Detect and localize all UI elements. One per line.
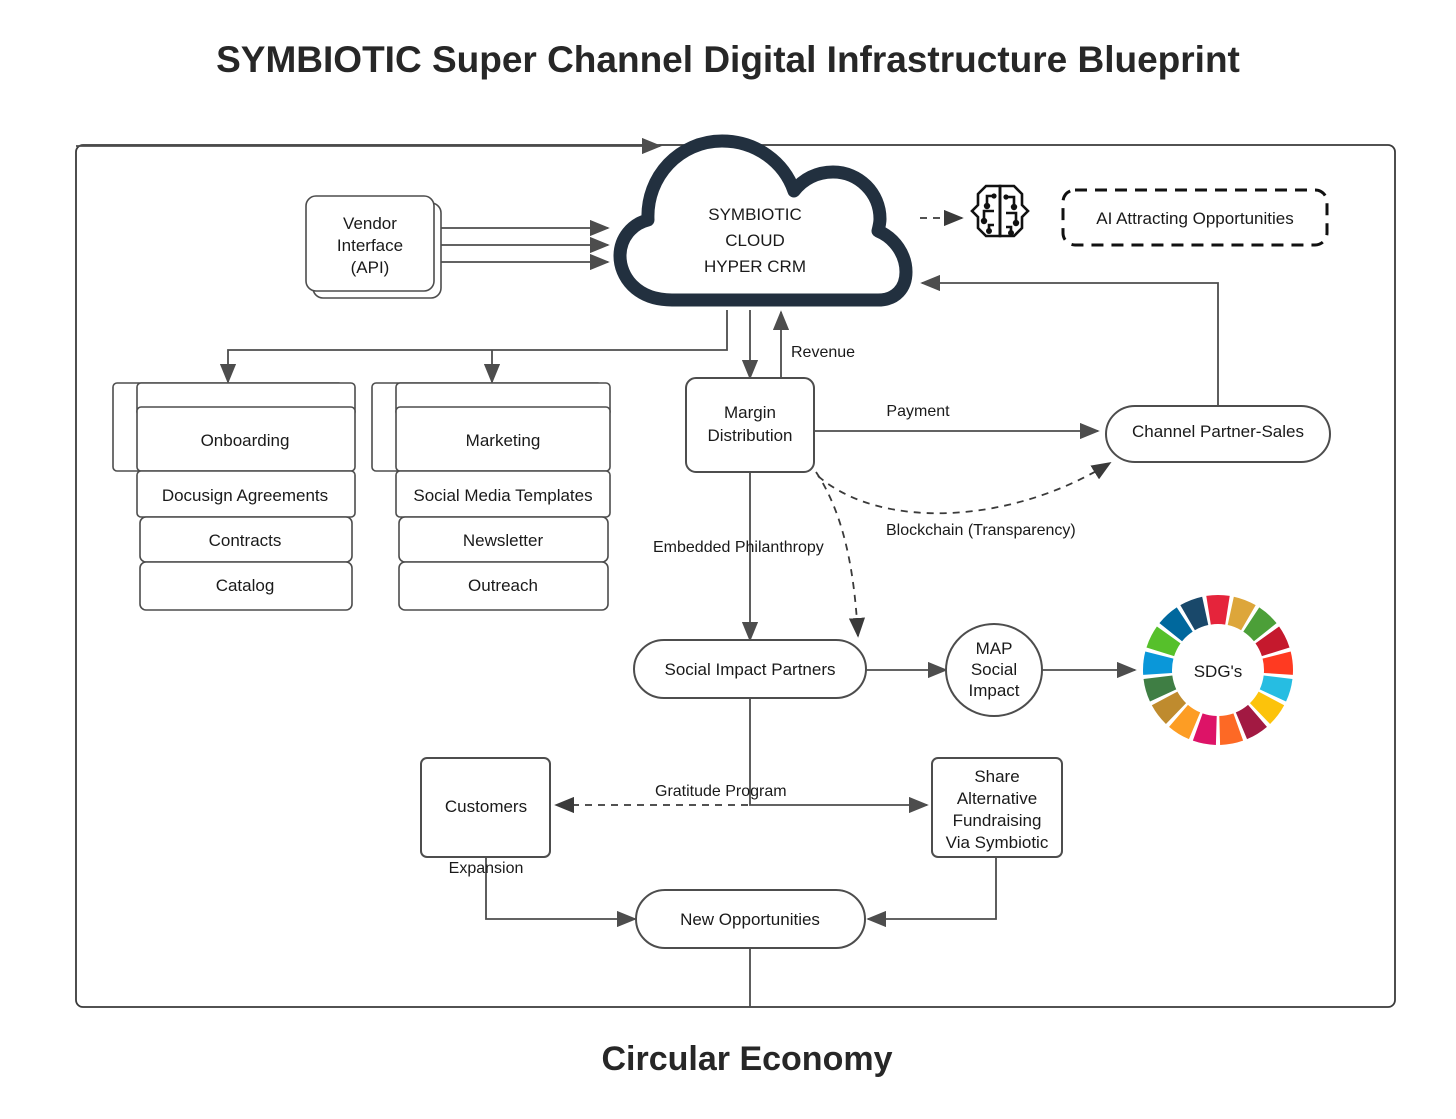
- margin-line-1: Margin: [724, 403, 776, 422]
- onboarding-header: Onboarding: [201, 431, 290, 450]
- node-share-fundraising[interactable]: Share Alternative Fundraising Via Symbio…: [932, 758, 1062, 857]
- ai-brain-icon: [972, 186, 1028, 236]
- map-line-3: Impact: [968, 681, 1019, 700]
- edge-channel-to-cloud: [922, 283, 1218, 406]
- node-ai-attracting-opportunities[interactable]: AI Attracting Opportunities: [1063, 190, 1327, 245]
- cloud-line-1: SYMBIOTIC: [708, 205, 802, 224]
- diagram-canvas: SYMBIOTIC Super Channel Digital Infrastr…: [0, 0, 1456, 1119]
- node-map-social-impact[interactable]: MAP Social Impact: [946, 624, 1042, 716]
- edge-cloud-to-onboarding: [228, 310, 727, 382]
- sdg-wheel-chart: SDG's: [1143, 595, 1293, 745]
- share-line-3: Fundraising: [953, 811, 1042, 830]
- vendor-line-1: Vendor: [343, 214, 397, 233]
- node-onboarding-stack[interactable]: Onboarding Docusign Agreements Contracts…: [113, 383, 355, 610]
- label-embedded-philanthropy: Embedded Philanthropy: [653, 539, 824, 556]
- margin-line-2: Distribution: [707, 426, 792, 445]
- label-payment: Payment: [886, 403, 950, 420]
- onboarding-row-0-label: Docusign Agreements: [162, 486, 328, 505]
- cloud-line-2: CLOUD: [725, 231, 785, 250]
- footer-title: Circular Economy: [602, 1040, 893, 1078]
- node-customers[interactable]: Customers: [421, 758, 550, 857]
- label-gratitude-program: Gratitude Program: [655, 783, 787, 800]
- page-title: SYMBIOTIC Super Channel Digital Infrastr…: [216, 39, 1240, 80]
- onboarding-row-1-label: Contracts: [209, 531, 282, 550]
- node-margin-distribution[interactable]: Margin Distribution: [686, 378, 814, 472]
- node-symbiotic-cloud[interactable]: SYMBIOTIC CLOUD HYPER CRM: [620, 141, 906, 300]
- node-marketing-stack[interactable]: Marketing Social Media Templates Newslet…: [372, 383, 610, 610]
- node-channel-partner-sales[interactable]: Channel Partner-Sales: [1106, 406, 1330, 462]
- map-line-2: Social: [971, 660, 1017, 679]
- map-line-1: MAP: [976, 639, 1013, 658]
- sdg-segment-1: [1206, 595, 1229, 625]
- edge-blockchain-to-channel: [818, 463, 1110, 513]
- share-line-2: Alternative: [957, 789, 1037, 808]
- sdg-label: SDG's: [1194, 662, 1243, 681]
- share-line-4: Via Symbiotic: [946, 833, 1049, 852]
- marketing-row-0-label: Social Media Templates: [413, 486, 592, 505]
- label-blockchain: Blockchain (Transparency): [886, 522, 1076, 539]
- onboarding-row-2-label: Catalog: [216, 576, 275, 595]
- edge-share-to-new-opportunities: [868, 857, 996, 919]
- blueprint-svg: SYMBIOTIC Super Channel Digital Infrastr…: [0, 0, 1456, 1119]
- node-social-impact-partners[interactable]: Social Impact Partners: [634, 640, 866, 698]
- marketing-row-2-label: Outreach: [468, 576, 538, 595]
- node-vendor-interface[interactable]: Vendor Interface (API): [306, 196, 441, 298]
- share-line-1: Share: [974, 767, 1019, 786]
- customers-label: Customers: [445, 797, 527, 816]
- vendor-line-2: Interface: [337, 236, 403, 255]
- new-opportunities-label: New Opportunities: [680, 910, 820, 929]
- sdg-segment-14: [1143, 651, 1173, 674]
- label-expansion: Expansion: [449, 860, 524, 877]
- ai-box-label: AI Attracting Opportunities: [1096, 209, 1294, 228]
- cloud-line-3: HYPER CRM: [704, 257, 806, 276]
- node-new-opportunities[interactable]: New Opportunities: [636, 890, 865, 948]
- marketing-header: Marketing: [466, 431, 541, 450]
- label-revenue: Revenue: [791, 344, 855, 361]
- vendor-line-3: (API): [351, 258, 390, 277]
- social-impact-partners-label: Social Impact Partners: [664, 660, 835, 679]
- marketing-row-1-label: Newsletter: [463, 531, 544, 550]
- channel-partner-label: Channel Partner-Sales: [1132, 422, 1304, 441]
- sdg-segment-5: [1263, 651, 1293, 674]
